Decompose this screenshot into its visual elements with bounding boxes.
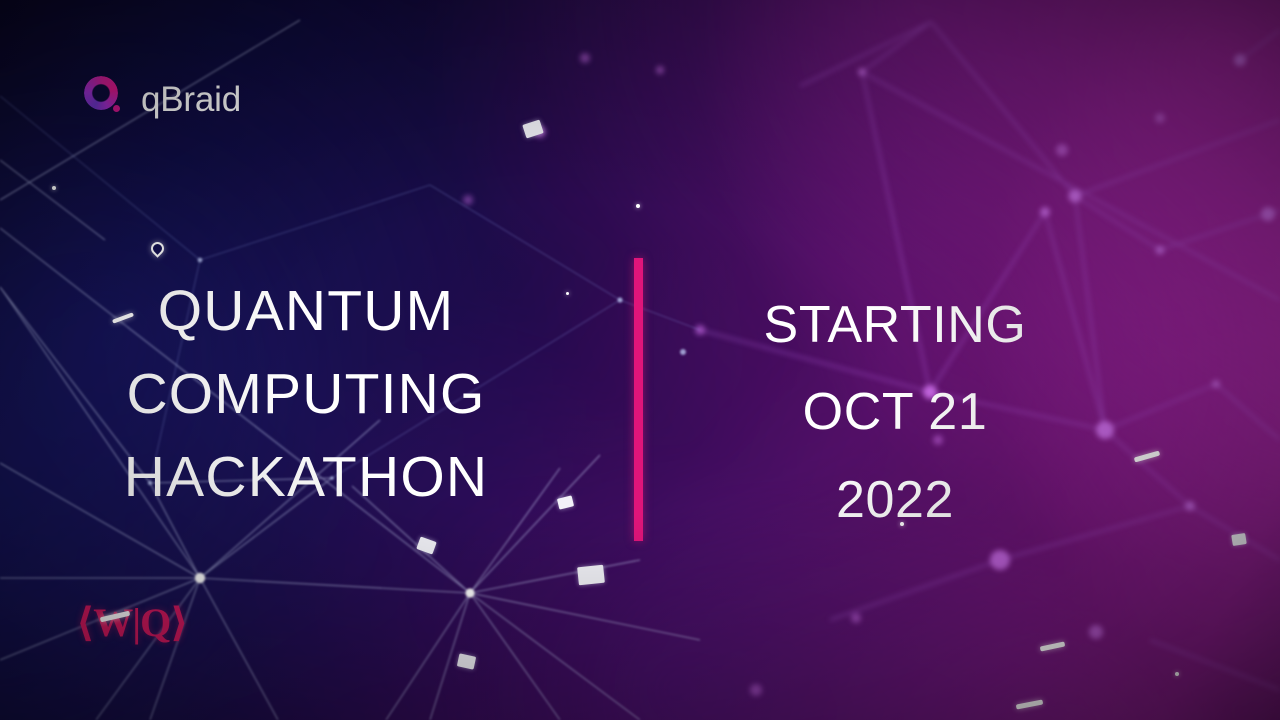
title-line-3: HACKATHON [0, 436, 612, 519]
event-date-block: STARTING OCT 21 2022 [660, 282, 1130, 544]
qbraid-ring-logo-icon [84, 76, 122, 122]
logo-ring-shape [84, 76, 118, 110]
vertical-divider [634, 258, 643, 541]
title-line-1: QUANTUM [0, 270, 612, 353]
brand-name: qBraid [141, 82, 241, 117]
page-title: QUANTUM COMPUTING HACKATHON [0, 270, 612, 519]
title-line-2: COMPUTING [0, 353, 612, 436]
qbraid-logo[interactable]: qBraid [84, 76, 241, 122]
date-line-1: STARTING [660, 282, 1130, 369]
braket-logo: ⟨W|Q⟩ [76, 603, 187, 643]
date-line-2: OCT 21 [660, 369, 1130, 456]
hackathon-promo-slide: qBraid QUANTUM COMPUTING HACKATHON START… [0, 0, 1280, 720]
logo-dot-shape [113, 105, 120, 112]
date-line-3: 2022 [660, 457, 1130, 544]
